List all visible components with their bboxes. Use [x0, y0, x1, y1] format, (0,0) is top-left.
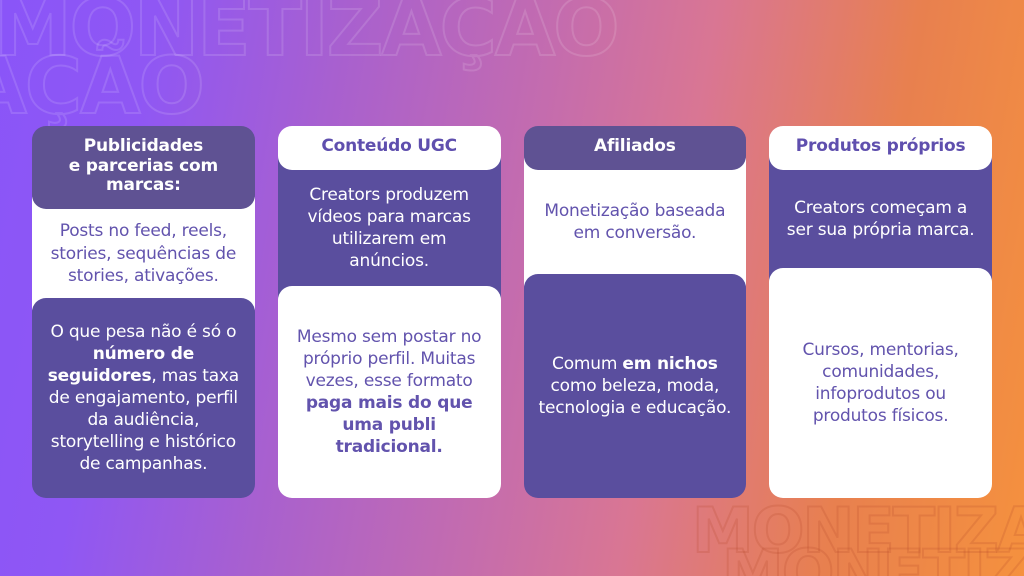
card-body-publicidades: Posts no feed, reels, stories, sequência…: [32, 197, 255, 310]
card-header-conteudo-ugc: Conteúdo UGC: [278, 126, 501, 170]
card-body-text: Monetização baseada em conversão.: [536, 200, 735, 244]
note-text-bold-1: em nichos: [622, 354, 717, 374]
card-note-produtos-proprios: Cursos, mentorias, comunidades, infoprod…: [769, 268, 992, 498]
header-line-2: e parcerias com: [69, 156, 218, 176]
card-body-text: Creators começam a ser sua própria marca…: [781, 197, 980, 241]
column-afiliados: Afiliados Monetização baseada em convers…: [524, 126, 747, 498]
note-text-plain-1: O que pesa não é só o: [50, 322, 236, 342]
card-body-text: Creators produzem vídeos para marcas uti…: [290, 184, 489, 272]
card-note-conteudo-ugc: Mesmo sem postar no próprio perfil. Muit…: [278, 286, 501, 498]
watermark-text: MONETIZAÇÃO: [692, 494, 1024, 567]
watermark-text: MONETIZAÇÃO: [0, 0, 618, 74]
header-line-3: marcas:: [106, 175, 181, 195]
column-conteudo-ugc: Conteúdo UGC Creators produzem vídeos pa…: [278, 126, 501, 498]
header-line-1: Afiliados: [594, 137, 676, 157]
card-body-afiliados: Monetização baseada em conversão.: [524, 158, 747, 286]
card-columns: Publicidades e parcerias com marcas: Pos…: [32, 126, 992, 498]
card-note-publicidades: O que pesa não é só o número de seguidor…: [32, 298, 255, 498]
card-header-afiliados: Afiliados: [524, 126, 747, 170]
watermark-text: MONETIZAÇÃ: [722, 536, 1024, 576]
watermark-text: ZAÇÃO: [0, 42, 203, 132]
header-line-1: Conteúdo UGC: [321, 137, 457, 157]
card-body-produtos-proprios: Creators começam a ser sua própria marca…: [769, 158, 992, 280]
note-text-plain-1: Cursos, mentorias, comunidades, infoprod…: [803, 340, 959, 426]
header-line-1: Produtos próprios: [796, 137, 966, 157]
note-text-plain-1: Mesmo sem postar no próprio perfil. Muit…: [297, 327, 482, 391]
card-body-text: Posts no feed, reels, stories, sequência…: [44, 220, 243, 286]
card-header-publicidades: Publicidades e parcerias com marcas:: [32, 126, 255, 209]
header-line-1: Publicidades: [84, 136, 203, 156]
slide-canvas: MONETIZAÇÃO ZAÇÃO MONETIZAÇÃO MONETIZAÇÃ…: [0, 0, 1024, 576]
column-produtos-proprios: Produtos próprios Creators começam a ser…: [769, 126, 992, 498]
column-publicidades: Publicidades e parcerias com marcas: Pos…: [32, 126, 255, 498]
note-text-plain-1: Comum: [552, 354, 622, 374]
card-note-afiliados: Comum em nichos como beleza, moda, tecno…: [524, 274, 747, 498]
card-body-conteudo-ugc: Creators produzem vídeos para marcas uti…: [278, 158, 501, 298]
card-header-produtos-proprios: Produtos próprios: [769, 126, 992, 170]
note-text-plain-2: como beleza, moda, tecnologia e educação…: [539, 376, 732, 418]
note-text-bold-1: paga mais do que uma publi tradicional.: [306, 393, 473, 457]
